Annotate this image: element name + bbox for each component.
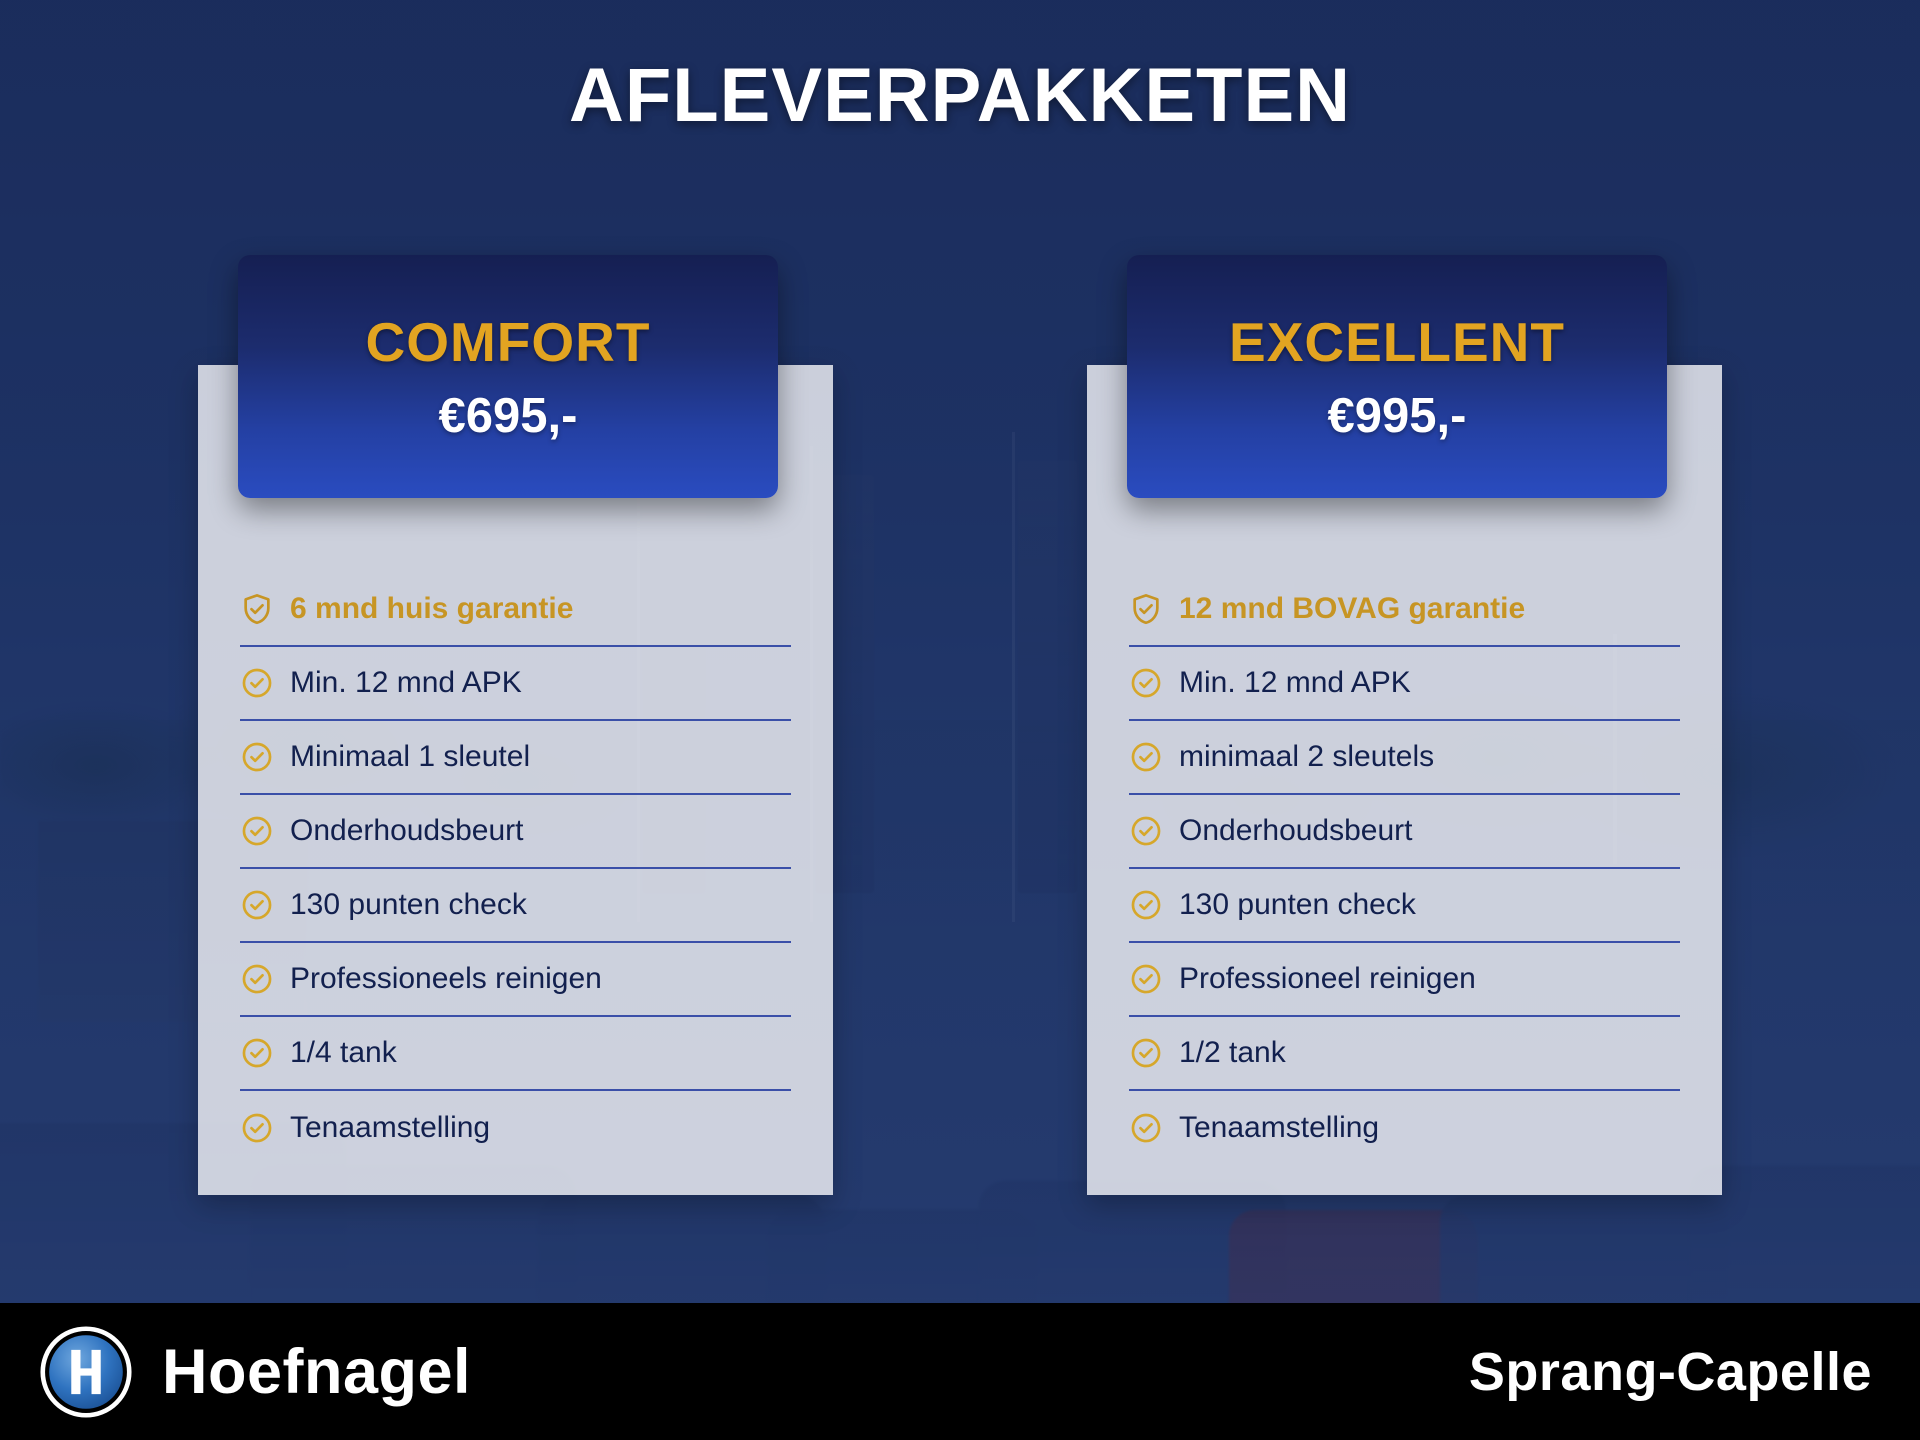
feature-label: 6 mnd huis garantie (290, 594, 573, 624)
feature-label: Tenaamstelling (290, 1113, 490, 1143)
feature-label: Minimaal 1 sleutel (290, 742, 530, 772)
circle-check-icon (1129, 1036, 1163, 1070)
shield-check-icon (240, 592, 274, 626)
feature-label: 12 mnd BOVAG garantie (1179, 594, 1525, 624)
feature-item: Professioneels reinigen (240, 943, 791, 1017)
circle-check-icon (1129, 1111, 1163, 1145)
feature-item: Tenaamstelling (1129, 1091, 1680, 1165)
feature-item: 130 punten check (240, 869, 791, 943)
feature-item: Minimaal 1 sleutel (240, 721, 791, 795)
feature-item: Professioneel reinigen (1129, 943, 1680, 1017)
circle-check-icon (1129, 888, 1163, 922)
brand-name: Hoefnagel (162, 1336, 471, 1408)
feature-list-comfort: 6 mnd huis garantieMin. 12 mnd APKMinima… (240, 573, 791, 1165)
package-header-comfort: COMFORT €695,- (238, 255, 778, 498)
feature-item: Onderhoudsbeurt (240, 795, 791, 869)
feature-item: 1/2 tank (1129, 1017, 1680, 1091)
feature-item: 6 mnd huis garantie (240, 573, 791, 647)
feature-label: 1/2 tank (1179, 1038, 1286, 1068)
feature-label: Professioneels reinigen (290, 964, 602, 994)
feature-item: Tenaamstelling (240, 1091, 791, 1165)
package-price: €995,- (1328, 388, 1467, 444)
circle-check-icon (240, 666, 274, 700)
footer-bar: Hoefnagel Sprang-Capelle (0, 1303, 1920, 1440)
package-card-excellent[interactable]: 12 mnd BOVAG garantieMin. 12 mnd APKmini… (1087, 255, 1722, 498)
feature-label: Professioneel reinigen (1179, 964, 1476, 994)
package-card-comfort[interactable]: 6 mnd huis garantieMin. 12 mnd APKMinima… (198, 255, 833, 498)
package-name: EXCELLENT (1229, 310, 1565, 374)
circle-check-icon (240, 1111, 274, 1145)
shield-check-icon (1129, 592, 1163, 626)
circle-check-icon (1129, 962, 1163, 996)
feature-label: 130 punten check (1179, 890, 1416, 920)
circle-check-icon (1129, 814, 1163, 848)
package-price: €695,- (439, 388, 578, 444)
page-title: AFLEVERPAKKETEN (0, 52, 1920, 139)
feature-item: Min. 12 mnd APK (240, 647, 791, 721)
circle-check-icon (240, 888, 274, 922)
circle-check-icon (240, 1036, 274, 1070)
feature-label: Onderhoudsbeurt (290, 816, 524, 846)
package-card-list: 6 mnd huis garantieMin. 12 mnd APKMinima… (0, 255, 1920, 498)
feature-item: 130 punten check (1129, 869, 1680, 943)
location-label: Sprang-Capelle (1469, 1341, 1872, 1403)
package-header-excellent: EXCELLENT €995,- (1127, 255, 1667, 498)
circle-check-icon (240, 962, 274, 996)
feature-list-excellent: 12 mnd BOVAG garantieMin. 12 mnd APKmini… (1129, 573, 1680, 1165)
feature-item: minimaal 2 sleutels (1129, 721, 1680, 795)
feature-label: Min. 12 mnd APK (1179, 668, 1411, 698)
feature-item: 12 mnd BOVAG garantie (1129, 573, 1680, 647)
feature-item: 1/4 tank (240, 1017, 791, 1091)
feature-item: Onderhoudsbeurt (1129, 795, 1680, 869)
brand-block: Hoefnagel (40, 1326, 471, 1418)
circle-check-icon (240, 740, 274, 774)
feature-item: Min. 12 mnd APK (1129, 647, 1680, 721)
hoefnagel-h-logo-icon (40, 1326, 132, 1418)
feature-label: Onderhoudsbeurt (1179, 816, 1413, 846)
circle-check-icon (1129, 666, 1163, 700)
circle-check-icon (1129, 740, 1163, 774)
feature-label: 130 punten check (290, 890, 527, 920)
feature-label: Min. 12 mnd APK (290, 668, 522, 698)
package-name: COMFORT (365, 310, 650, 374)
circle-check-icon (240, 814, 274, 848)
feature-label: 1/4 tank (290, 1038, 397, 1068)
feature-label: minimaal 2 sleutels (1179, 742, 1434, 772)
feature-label: Tenaamstelling (1179, 1113, 1379, 1143)
